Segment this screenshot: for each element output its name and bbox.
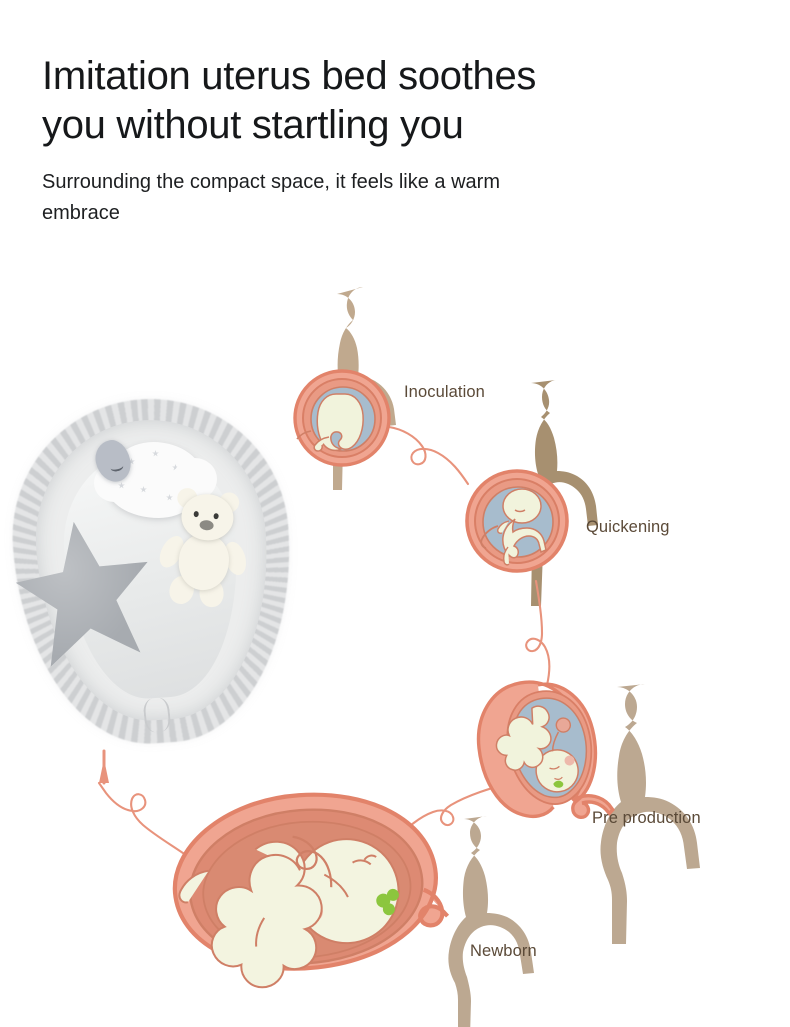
star-decoration-icon bbox=[152, 450, 159, 457]
fetus-head bbox=[503, 489, 541, 523]
infographic-page: Imitation uterus bed soothes you without… bbox=[0, 0, 790, 1027]
umbilical-green-4 bbox=[376, 888, 401, 916]
amniotic-sac-3 bbox=[506, 692, 595, 803]
umbilical-cord-4 bbox=[293, 834, 332, 889]
baby-cheek-4 bbox=[300, 900, 323, 923]
uterus-cavity-4 bbox=[199, 815, 415, 964]
stage-label-inoculation: Inoculation bbox=[404, 383, 485, 402]
baby-eye-4 bbox=[324, 873, 348, 898]
womb-stage-quickening bbox=[467, 471, 567, 571]
baby-brow-4 bbox=[352, 860, 370, 866]
star-decoration-icon bbox=[172, 464, 179, 471]
product-photo-baby-nest bbox=[8, 398, 304, 760]
baby-mouth-3 bbox=[554, 777, 562, 780]
embryo-body bbox=[317, 394, 363, 450]
baby-face-3 bbox=[550, 766, 560, 769]
stage-label-newborn: Newborn bbox=[470, 942, 537, 961]
silhouette-pregnant-woman-1 bbox=[325, 287, 396, 490]
page-subtitle: Surrounding the compact space, it feels … bbox=[42, 167, 617, 229]
placenta-knot-3 bbox=[555, 717, 571, 733]
connector-4-arrowhead bbox=[99, 759, 109, 783]
connector-1 bbox=[389, 427, 468, 484]
fetus-body bbox=[503, 519, 546, 558]
page-title: Imitation uterus bed soothes you without… bbox=[42, 52, 702, 150]
umbilical-green-3 bbox=[553, 780, 564, 789]
womb-stage-newborn bbox=[169, 785, 452, 992]
uterus-wall-3 bbox=[500, 684, 601, 810]
star-decoration-icon bbox=[140, 486, 147, 493]
umbilical-cord-2 bbox=[481, 526, 498, 548]
cord-3 bbox=[550, 732, 562, 751]
stage-label-pre-production: Pre production bbox=[592, 809, 701, 828]
embryo-limb bbox=[314, 437, 329, 451]
fetus-arm bbox=[498, 521, 509, 533]
baby-limbs-3 bbox=[491, 704, 558, 773]
cord-lower-4 bbox=[254, 918, 266, 947]
baby-hair-tuft-4 bbox=[364, 855, 376, 860]
connector-2 bbox=[526, 581, 549, 685]
header-text-block: Imitation uterus bed soothes you without… bbox=[42, 52, 702, 229]
fetus-eye bbox=[515, 510, 525, 512]
silhouette-pregnant-woman-2 bbox=[523, 380, 598, 606]
baby-cheek-3 bbox=[564, 755, 576, 767]
uterus-wall-4 bbox=[185, 802, 428, 971]
silhouette-pregnant-woman-4 bbox=[448, 816, 534, 1027]
baby-arm-4 bbox=[178, 871, 211, 903]
baby-head-4 bbox=[291, 836, 402, 947]
stage-label-quickening: Quickening bbox=[586, 518, 670, 537]
uterus-outer-4 bbox=[169, 785, 451, 977]
connector-4 bbox=[99, 783, 190, 858]
star-decoration-icon bbox=[118, 482, 125, 489]
connector-3 bbox=[396, 782, 513, 839]
fetus-leg bbox=[504, 547, 509, 565]
baby-body-4 bbox=[205, 839, 327, 991]
womb-stage-inoculation bbox=[295, 371, 389, 465]
teddy-bear-plush bbox=[154, 490, 251, 610]
baby-head-3 bbox=[533, 747, 582, 796]
